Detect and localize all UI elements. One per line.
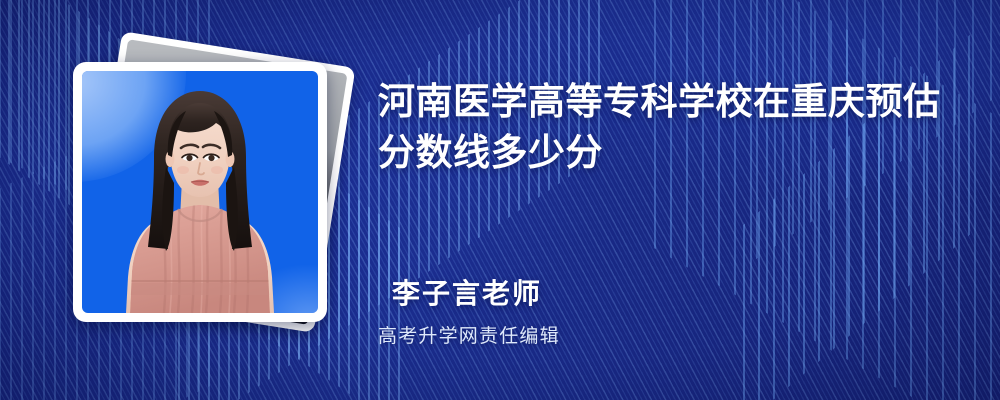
author-photo-block bbox=[48, 38, 358, 358]
article-cover-banner: 河南医学高等专科学校在重庆预估分数线多少分 李子言老师 高考升学网责任编辑 bbox=[0, 0, 1000, 400]
byline: 李子言老师 高考升学网责任编辑 bbox=[392, 272, 560, 348]
text-column: 河南医学高等专科学校在重庆预估分数线多少分 李子言老师 高考升学网责任编辑 bbox=[378, 0, 978, 400]
avatar bbox=[82, 71, 318, 313]
author-name: 李子言老师 bbox=[392, 272, 560, 312]
author-role: 高考升学网责任编辑 bbox=[378, 321, 560, 348]
portrait-illustration bbox=[82, 71, 318, 313]
photo-frame-front bbox=[73, 62, 327, 322]
page-title: 河南医学高等专科学校在重庆预估分数线多少分 bbox=[378, 76, 964, 178]
